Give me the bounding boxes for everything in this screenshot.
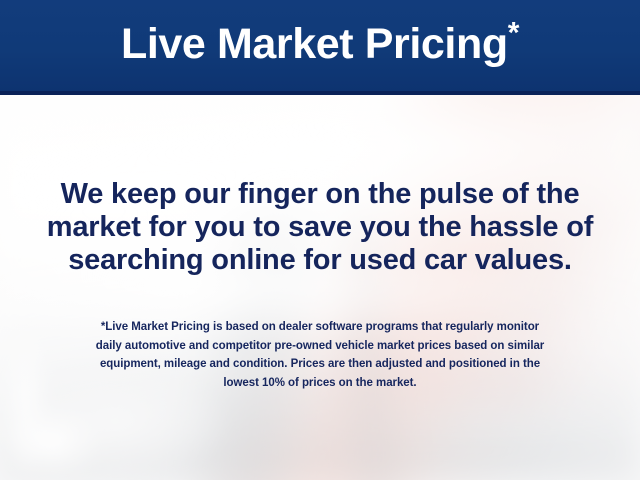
headline: We keep our finger on the pulse of the m… [0, 178, 640, 277]
headline-line-1: We keep our finger on the pulse of the [0, 178, 640, 211]
disclaimer-line-2: daily automotive and competitor pre-owne… [0, 337, 640, 356]
headline-line-3: searching online for used car values. [0, 244, 640, 277]
header-bottom-rule [0, 91, 640, 95]
header-band: Live Market Pricing* [0, 0, 640, 91]
page-title-text: Live Market Pricing [121, 20, 508, 68]
disclaimer-line-3: equipment, mileage and condition. Prices… [0, 355, 640, 374]
live-market-pricing-banner: Live Market Pricing* We keep our finger … [0, 0, 640, 480]
page-title-asterisk: * [508, 16, 519, 49]
disclaimer-line-1: *Live Market Pricing is based on dealer … [0, 318, 640, 337]
page-title: Live Market Pricing* [121, 23, 519, 69]
headline-line-2: market for you to save you the hassle of [0, 211, 640, 244]
disclaimer-line-4: lowest 10% of prices on the market. [0, 374, 640, 393]
disclaimer: *Live Market Pricing is based on dealer … [0, 318, 640, 392]
